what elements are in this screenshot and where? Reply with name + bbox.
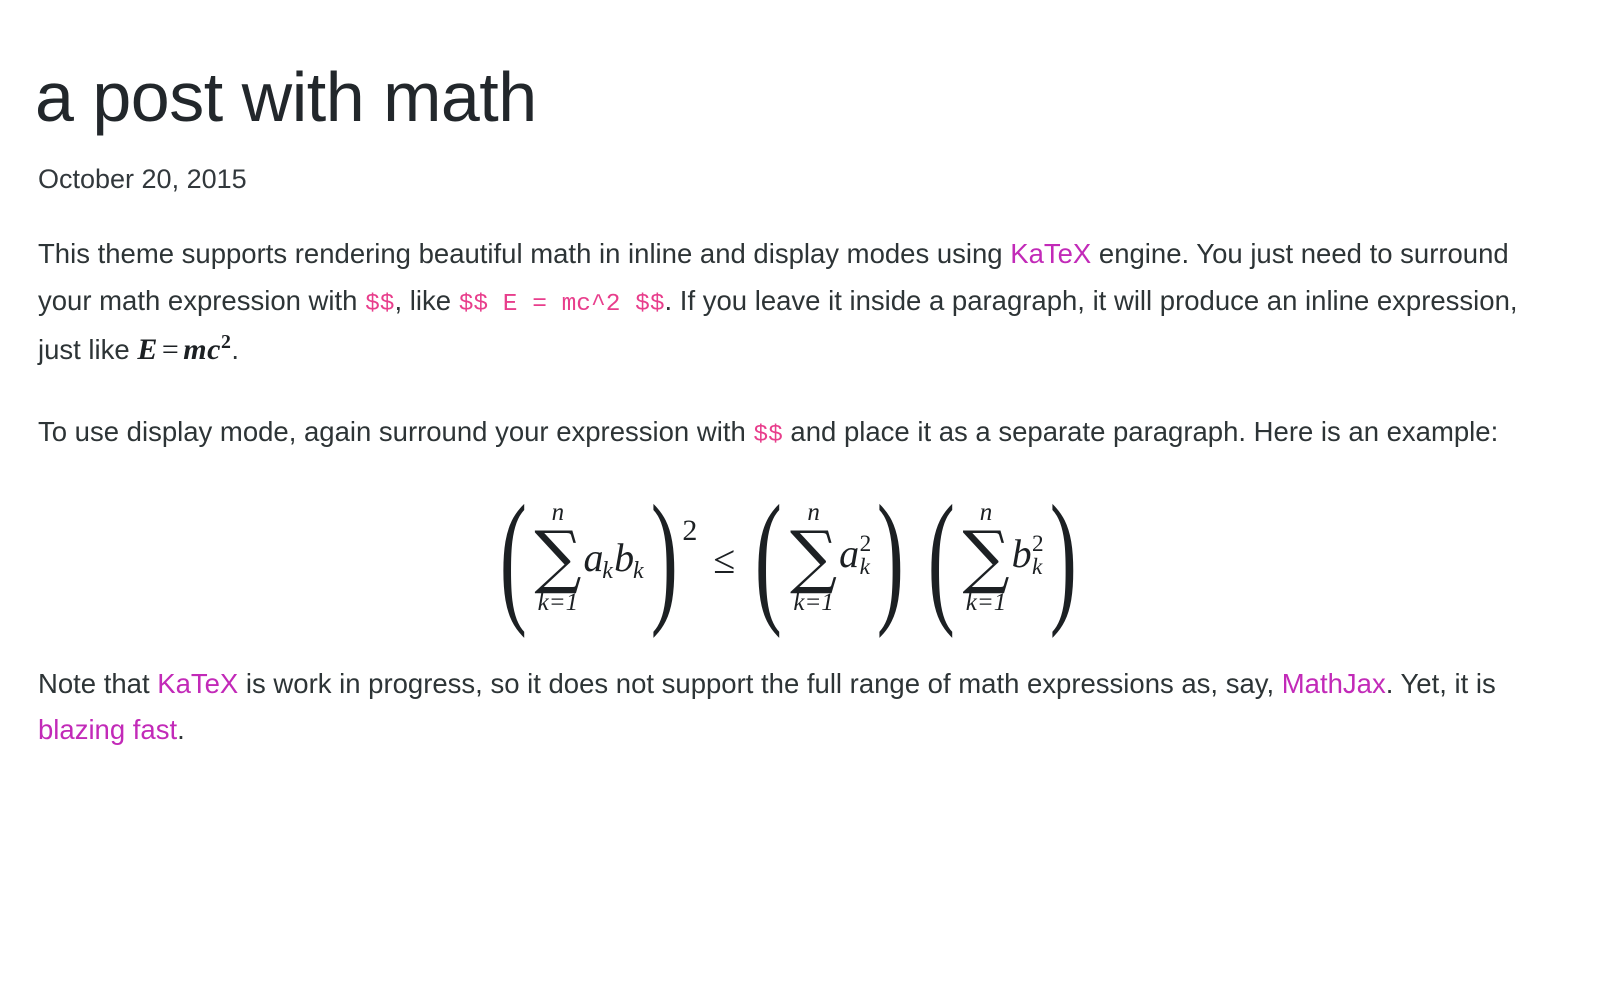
inline-math-emc2: E=mc2	[137, 333, 231, 366]
inline-math-operator: =	[158, 333, 183, 366]
inline-math-exponent: 2	[221, 331, 231, 353]
term-b2-base: b	[1012, 531, 1032, 576]
close-paren-1: )	[651, 494, 678, 621]
paragraph-note-text-2: is work in progress, so it does not supp…	[238, 668, 1281, 699]
inline-math-lhs: E	[137, 333, 158, 366]
sigma-icon: ∑	[962, 526, 1009, 589]
term-b2-scripts: 2k	[1032, 533, 1044, 580]
close-paren-2: )	[877, 494, 904, 621]
paragraph-note-text-4: .	[177, 714, 185, 745]
term-a2-scripts: 2k	[860, 533, 872, 580]
paragraph-display-text-1: To use display mode, again surround your…	[38, 416, 753, 447]
summation-1: n ∑ k=1	[534, 500, 581, 615]
term-b-subscript: k	[633, 558, 644, 584]
sigma-icon: ∑	[790, 526, 837, 589]
term-b2-superscript: 2	[1032, 533, 1044, 557]
open-paren-1: (	[500, 494, 527, 621]
paragraph-intro-text-5: .	[231, 334, 239, 365]
relation-leq: ≤	[697, 540, 751, 580]
sum-group-1: n ∑ k=1 ak bk	[532, 500, 644, 615]
summation-2: n ∑ k=1	[790, 500, 837, 615]
summation-3: n ∑ k=1	[962, 500, 1009, 615]
term-a-subscript: k	[602, 558, 613, 584]
code-dollar-delimiters-2: $$	[753, 422, 782, 449]
post-date: October 20, 2015	[38, 162, 1560, 197]
term-a2-subscript: k	[860, 556, 872, 580]
close-paren-3: )	[1049, 494, 1076, 621]
outer-exponent: 2	[682, 514, 697, 548]
link-katex-1[interactable]: KaTeX	[1010, 238, 1091, 269]
term-a2-base: a	[839, 531, 859, 576]
link-mathjax[interactable]: MathJax	[1282, 668, 1386, 699]
paragraph-intro: This theme supports rendering beautiful …	[38, 231, 1538, 375]
post-content: This theme supports rendering beautiful …	[38, 231, 1538, 753]
page-title: a post with math	[35, 58, 1560, 136]
term-a-k: ak	[583, 538, 614, 578]
code-math-example: $$ E = mc^2 $$	[459, 291, 665, 318]
paragraph-intro-text-3: , like	[395, 285, 459, 316]
display-math-block: ( n ∑ k=1 ak bk ) 2 ≤ ( n	[38, 500, 1538, 615]
sigma-icon: ∑	[534, 526, 581, 589]
term-b2-subscript: k	[1032, 556, 1044, 580]
sum-group-2: n ∑ k=1 a2k	[788, 500, 871, 615]
paragraph-note-text-3: . Yet, it is	[1386, 668, 1496, 699]
term-a-base: a	[583, 535, 603, 580]
code-dollar-delimiters-1: $$	[365, 291, 394, 318]
term-b-k: bk	[614, 538, 645, 578]
sum-group-3: n ∑ k=1 b2k	[960, 500, 1043, 615]
open-paren-2: (	[755, 494, 782, 621]
term-b-k-squared: b2k	[1012, 534, 1044, 581]
link-blazing-fast[interactable]: blazing fast	[38, 714, 177, 745]
paragraph-note: Note that KaTeX is work in progress, so …	[38, 661, 1538, 753]
paragraph-intro-text-1: This theme supports rendering beautiful …	[38, 238, 1010, 269]
post-page: a post with math October 20, 2015 This t…	[0, 0, 1600, 1000]
paragraph-display-mode: To use display mode, again surround your…	[38, 409, 1538, 456]
paragraph-note-text-1: Note that	[38, 668, 157, 699]
open-paren-3: (	[928, 494, 955, 621]
inline-math-rhs: mc	[183, 333, 221, 366]
term-a-k-squared: a2k	[839, 534, 871, 581]
link-katex-2[interactable]: KaTeX	[157, 668, 238, 699]
term-a2-superscript: 2	[860, 533, 872, 557]
term-b-base: b	[614, 535, 634, 580]
cauchy-schwarz-equation: ( n ∑ k=1 ak bk ) 2 ≤ ( n	[496, 500, 1081, 615]
paragraph-display-text-2: and place it as a separate paragraph. He…	[783, 416, 1498, 447]
